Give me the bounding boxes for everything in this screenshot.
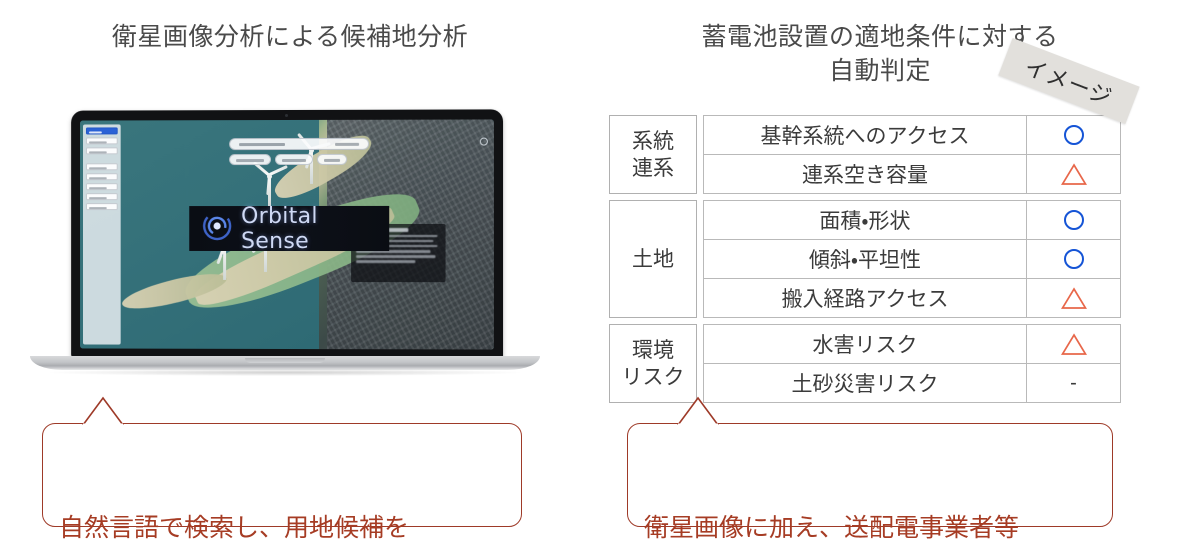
sidebar-divider xyxy=(83,154,121,160)
sidebar-list-item[interactable] xyxy=(86,173,118,180)
filter-chip[interactable] xyxy=(229,154,271,165)
table-row: 基幹系統へのアクセス xyxy=(703,115,1121,154)
table-row: 傾斜・平坦性 xyxy=(703,239,1121,278)
criteria-group: 環境 リスク水害リスク土砂災害リスク- xyxy=(609,324,1121,403)
table-row: 土砂災害リスク- xyxy=(703,363,1121,403)
criteria-item-label: 傾斜・平坦性 xyxy=(704,240,1026,278)
sidebar-list-item[interactable] xyxy=(86,193,118,200)
criteria-category-cell: 系統 連系 xyxy=(609,115,697,194)
table-row: 水害リスク xyxy=(703,324,1121,363)
logo-text: Orbital Sense xyxy=(241,203,389,253)
orbital-sense-logo-banner: Orbital Sense xyxy=(189,206,389,251)
sidebar-item-active[interactable] xyxy=(86,127,118,134)
judgement-circle-icon xyxy=(1026,116,1120,154)
laptop-mockup: Orbital Sense xyxy=(30,110,540,385)
table-row: 搬入経路アクセス xyxy=(703,278,1121,318)
callout-left-text: 自然言語で検索し、用地候補を リスト化 xyxy=(59,514,409,545)
laptop-lid: Orbital Sense xyxy=(71,109,503,359)
callout-right: 衛星画像に加え、送配電事業者等 の公開データも解析 xyxy=(627,423,1113,527)
criteria-group: 系統 連系基幹系統へのアクセス連系空き容量 xyxy=(609,115,1121,194)
table-row: 連系空き容量 xyxy=(703,154,1121,194)
judgement-circle-icon xyxy=(1026,201,1120,239)
judgement-triangle-icon xyxy=(1026,325,1120,363)
callout-tail-icon xyxy=(81,396,141,426)
webcam-icon xyxy=(285,114,288,117)
criteria-item-label: 面積・形状 xyxy=(704,201,1026,239)
search-placeholder-text xyxy=(239,143,285,146)
sidebar-list-item[interactable] xyxy=(86,203,118,210)
table-row: 面積・形状 xyxy=(703,200,1121,239)
judgement-triangle-icon xyxy=(1026,155,1120,193)
callout-left: 自然言語で検索し、用地候補を リスト化 xyxy=(42,423,522,527)
criteria-item-label: 水害リスク xyxy=(704,325,1026,363)
map-search-input[interactable] xyxy=(229,138,369,150)
page-title-left: 衛星画像分析による候補地分析 xyxy=(0,20,580,54)
sidebar-item[interactable] xyxy=(86,137,118,144)
filter-chip[interactable] xyxy=(275,154,313,165)
criteria-category-cell: 土地 xyxy=(609,200,697,318)
laptop-screen: Orbital Sense xyxy=(80,119,494,349)
criteria-rows: 水害リスク土砂災害リスク- xyxy=(703,324,1121,403)
judgement-circle-icon xyxy=(1026,240,1120,278)
laptop-shadow xyxy=(50,369,520,376)
slide-root: 衛星画像分析による候補地分析 蓄電池設置の適地条件に対する 自動判定 xyxy=(0,0,1183,545)
sidebar-item[interactable] xyxy=(86,147,118,154)
criteria-group: 土地面積・形状傾斜・平坦性搬入経路アクセス xyxy=(609,200,1121,318)
callout-tail-icon xyxy=(676,396,736,426)
callout-right-text: 衛星画像に加え、送配電事業者等 の公開データも解析 xyxy=(644,514,1019,545)
laptop-base-notch xyxy=(245,358,325,363)
app-sidebar[interactable] xyxy=(83,124,121,344)
criteria-rows: 面積・形状傾斜・平坦性搬入経路アクセス xyxy=(703,200,1121,318)
criteria-item-label: 連系空き容量 xyxy=(704,155,1026,193)
filter-chip[interactable] xyxy=(317,154,347,165)
search-submit-button[interactable] xyxy=(335,143,359,146)
sidebar-list-item[interactable] xyxy=(86,163,118,170)
gear-icon[interactable] xyxy=(480,138,488,146)
criteria-category-cell: 環境 リスク xyxy=(609,324,697,403)
criteria-rows: 基幹系統へのアクセス連系空き容量 xyxy=(703,115,1121,194)
judgement-dash-icon: - xyxy=(1026,364,1120,402)
criteria-table: 系統 連系基幹系統へのアクセス連系空き容量土地面積・形状傾斜・平坦性搬入経路アク… xyxy=(609,115,1121,409)
criteria-item-label: 搬入経路アクセス xyxy=(704,279,1026,317)
criteria-item-label: 土砂災害リスク xyxy=(704,364,1026,402)
judgement-triangle-icon xyxy=(1026,279,1120,317)
spiral-eye-icon xyxy=(202,211,232,246)
sidebar-list-item[interactable] xyxy=(86,183,118,190)
criteria-item-label: 基幹系統へのアクセス xyxy=(704,116,1026,154)
